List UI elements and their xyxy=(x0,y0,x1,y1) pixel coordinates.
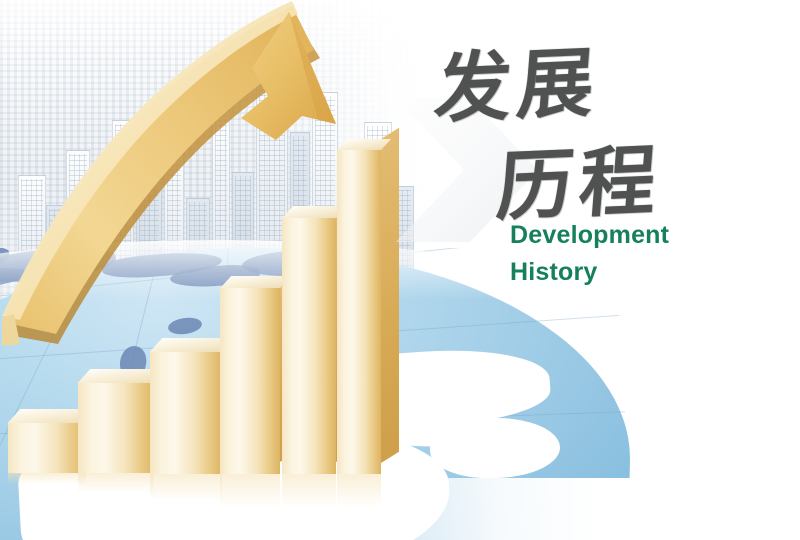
headline-chinese-line-2: 历程 xyxy=(493,118,666,235)
headline-english-line-2: History xyxy=(510,258,598,287)
headline-block: 发展 历程 Development History xyxy=(432,18,772,288)
headline-chinese-line-1: 发展 xyxy=(431,20,604,137)
headline-english-line-1: Development xyxy=(510,221,669,250)
development-history-banner: 发展 历程 Development History xyxy=(0,0,800,540)
